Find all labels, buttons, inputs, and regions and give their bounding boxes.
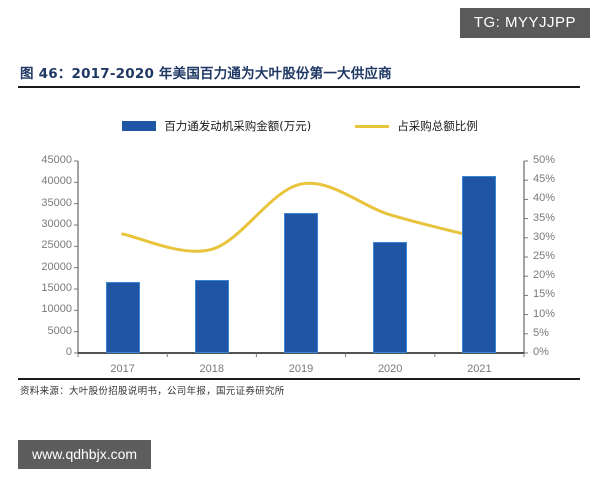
- y-axis-right-label: 35%: [533, 212, 555, 224]
- legend-item-bar: 百力通发动机采购金额(万元): [122, 118, 311, 134]
- y-axis-right-label: 20%: [533, 269, 555, 281]
- y-axis-left-label: 35000: [18, 197, 72, 209]
- x-axis-label: 2019: [261, 363, 341, 375]
- chart-bar: [284, 213, 318, 353]
- legend-label-line: 占采购总额比例: [397, 118, 478, 134]
- chart-bar: [462, 176, 496, 353]
- legend-line-swatch-icon: [355, 125, 389, 128]
- x-axis-label: 2017: [83, 363, 163, 375]
- y-axis-left-label: 30000: [18, 218, 72, 230]
- y-axis-right-label: 40%: [533, 192, 555, 204]
- y-axis-left-label: 40000: [18, 175, 72, 187]
- source-note: 资料来源：大叶股份招股说明书，公司年报，国元证券研究所: [20, 383, 285, 397]
- y-axis-right-label: 30%: [533, 231, 555, 243]
- y-axis-left-label: 45000: [18, 154, 72, 166]
- y-axis-left-label: 10000: [18, 303, 72, 315]
- y-axis-left-label: 25000: [18, 239, 72, 251]
- figure-title: 图 46：2017-2020 年美国百力通为大叶股份第一大供应商: [20, 62, 392, 82]
- legend-item-line: 占采购总额比例: [355, 118, 478, 134]
- y-axis-right-label: 5%: [533, 327, 549, 339]
- title-divider: [18, 86, 580, 88]
- y-axis-right-label: 50%: [533, 154, 555, 166]
- footer-divider: [18, 378, 580, 380]
- legend-label-bar: 百力通发动机采购金额(万元): [164, 118, 311, 134]
- legend-bar-swatch-icon: [122, 121, 156, 131]
- site-watermark: www.qdhbjx.com: [18, 440, 151, 469]
- y-axis-left-label: 15000: [18, 282, 72, 294]
- telegram-tag: TG: MYYJJPP: [460, 8, 590, 38]
- y-axis-right-label: 15%: [533, 288, 555, 300]
- x-axis-label: 2018: [172, 363, 252, 375]
- y-axis-right-label: 45%: [533, 173, 555, 185]
- y-axis-right-label: 10%: [533, 308, 555, 320]
- x-axis-label: 2021: [439, 363, 519, 375]
- chart-bar: [195, 280, 229, 353]
- chart-legend: 百力通发动机采购金额(万元) 占采购总额比例: [0, 118, 600, 134]
- y-axis-right-label: 0%: [533, 346, 549, 358]
- y-axis-left-label: 5000: [18, 325, 72, 337]
- chart-bar: [373, 242, 407, 353]
- chart-bar: [106, 282, 140, 353]
- y-axis-left-label: 20000: [18, 261, 72, 273]
- y-axis-left-label: 0: [18, 346, 72, 358]
- x-axis-label: 2020: [350, 363, 430, 375]
- y-axis-right-label: 25%: [533, 250, 555, 262]
